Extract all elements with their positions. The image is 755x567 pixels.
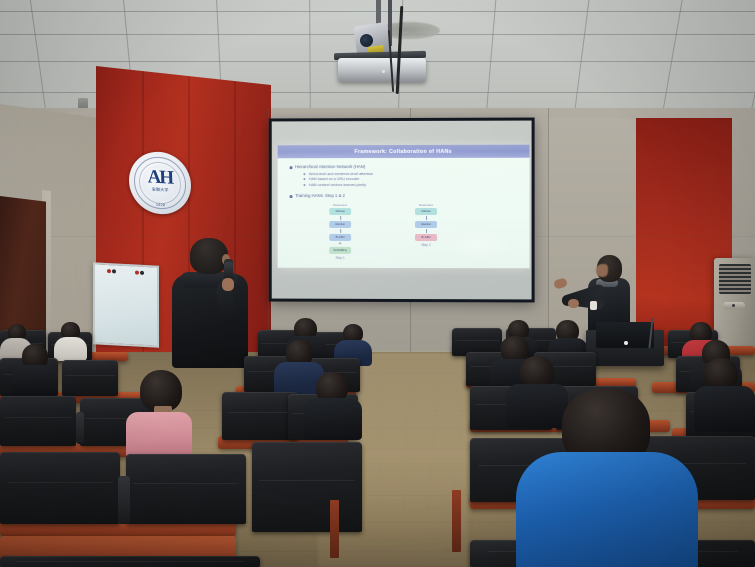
slide-title: Framework: Collaboration of HANs [278, 145, 530, 159]
diagram-node: Embedding [329, 247, 351, 254]
ceiling-projector [330, 0, 430, 92]
projector-led [382, 70, 385, 73]
seat-armrest [76, 412, 84, 444]
diagram-node: Bi-GRU [415, 234, 437, 241]
slide-sub-bullet-text: Word-level and sentence-level attention [309, 172, 373, 176]
seat[interactable] [222, 392, 298, 440]
whiteboard-magnet [107, 269, 111, 273]
diagram-node: Softmax [329, 208, 351, 215]
presenter-face [596, 264, 608, 277]
whiteboard[interactable] [93, 262, 159, 347]
audience-member [694, 358, 755, 430]
podium-monitor-led [624, 341, 628, 345]
whiteboard-magnet [135, 270, 139, 274]
standing-attendee-hand [222, 278, 234, 291]
diagram-caption: Step 1 [311, 256, 369, 260]
diagram-caption: Step 2 [397, 243, 455, 247]
seat[interactable] [252, 442, 362, 532]
seat[interactable] [0, 396, 76, 446]
slide-sub-bullet-text: HAN based on a GRU encoder [309, 177, 359, 181]
diagram-node: Attention [329, 221, 351, 228]
standing-attendee-torso [172, 274, 248, 368]
bullet-dot-icon [290, 195, 293, 198]
sub-bullet-dot-icon [303, 184, 305, 186]
slide-body: Hierarchical Attention Network (HAN) Wor… [290, 164, 522, 201]
conference-room-photo: AH 安徽大学 1928 Framework: Collaboration of… [0, 0, 755, 567]
seat[interactable] [0, 452, 120, 524]
slide-bullet: Hierarchical Attention Network (HAN) [290, 164, 522, 170]
sub-bullet-dot-icon [303, 178, 305, 180]
audience-member-pink [124, 370, 194, 450]
sub-bullet-dot-icon [303, 173, 305, 175]
diagram-node: Bi-GRU [329, 234, 351, 241]
screen-surface: Framework: Collaboration of HANs Hierarc… [272, 121, 532, 300]
audience-member [304, 372, 362, 438]
presenter-shirt-cuff [590, 301, 597, 310]
slide-bullet-text: Hierarchical Attention Network (HAN) [295, 164, 365, 170]
slide-sub-bullet: HAN context vectors learned jointly [303, 183, 521, 189]
desk-leg [452, 490, 461, 552]
slide-bullet-text: Training HANs: Step 1 & 2 [295, 193, 345, 199]
whiteboard-magnet [140, 271, 144, 275]
diagram-node: Softmax [415, 208, 437, 215]
slide-diagrams: Document Softmax Attention Bi-GRU + Embe… [311, 203, 491, 261]
diagram-header: Document [397, 203, 455, 207]
audience-member [334, 324, 372, 362]
seat[interactable] [0, 556, 260, 567]
presenter-hand [568, 299, 579, 308]
slide-diagram-step2: Document Softmax Attention Bi-GRU Step 2 [397, 203, 455, 241]
diagram-header: Document [311, 203, 369, 207]
diagram-node: Attention [415, 221, 437, 228]
slide-sub-bullet-text: HAN context vectors learned jointly [309, 183, 366, 187]
standing-attendee [166, 238, 262, 368]
desk-leg [330, 500, 339, 558]
projected-slide: Framework: Collaboration of HANs Hierarc… [278, 145, 530, 269]
slide-diagram-step1: Document Softmax Attention Bi-GRU + Embe… [311, 203, 369, 254]
seat-armrest [118, 476, 130, 524]
seat[interactable] [62, 360, 118, 396]
slide-bullet: Training HANs: Step 1 & 2 [290, 193, 522, 199]
seat[interactable] [126, 454, 246, 524]
ac-grille [719, 264, 751, 294]
audience-member-blue-jacket [516, 388, 698, 567]
bullet-dot-icon [290, 166, 293, 169]
projection-screen: Framework: Collaboration of HANs Hierarc… [269, 118, 535, 303]
whiteboard-magnet [112, 269, 116, 273]
audience-member [12, 344, 58, 390]
ac-indicator-led [732, 304, 735, 307]
presenter-pointing-hand [553, 277, 568, 289]
